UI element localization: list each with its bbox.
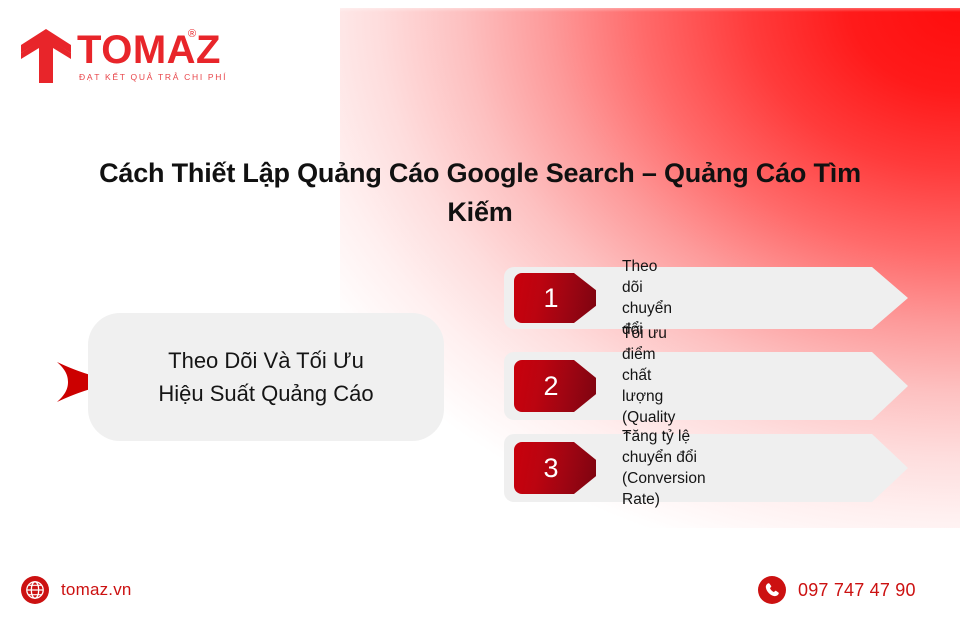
footer-website[interactable]: tomaz.vn: [20, 575, 132, 605]
tomaz-t-logo-icon: [20, 28, 72, 84]
step-number: 2: [543, 373, 558, 400]
left-summary-card: Theo Dõi Và Tối Ưu Hiệu Suất Quảng Cáo: [88, 313, 444, 441]
page-title: Cách Thiết Lập Quảng Cáo Google Search –…: [96, 154, 864, 232]
footer-phone[interactable]: 097 747 47 90: [757, 575, 916, 605]
glow-top-fade: [340, 0, 960, 12]
website-text: tomaz.vn: [61, 580, 132, 600]
phone-icon: [757, 575, 787, 605]
phone-text: 097 747 47 90: [798, 580, 916, 601]
brand-wordmark: TOMAZ: [77, 30, 221, 70]
brand-logo[interactable]: TOMAZ ® ĐẠT KẾT QUẢ TRẢ CHI PHÍ: [20, 28, 210, 90]
step-number: 1: [543, 285, 558, 312]
brand-tagline: ĐẠT KẾT QUẢ TRẢ CHI PHÍ: [79, 72, 227, 82]
globe-icon: [20, 575, 50, 605]
infographic-canvas: TOMAZ ® ĐẠT KẾT QUẢ TRẢ CHI PHÍ Cách Thi…: [0, 0, 960, 640]
registered-mark: ®: [188, 29, 196, 40]
left-summary-card-text: Theo Dõi Và Tối Ưu Hiệu Suất Quảng Cáo: [88, 313, 444, 441]
left-card-line-2: Hiệu Suất Quảng Cáo: [158, 377, 373, 410]
step-number: 3: [543, 455, 558, 482]
left-card-line-1: Theo Dõi Và Tối Ưu: [168, 344, 364, 377]
step-label: Tăng tỷ lệ chuyển đổi (Conversion Rate): [622, 426, 706, 510]
